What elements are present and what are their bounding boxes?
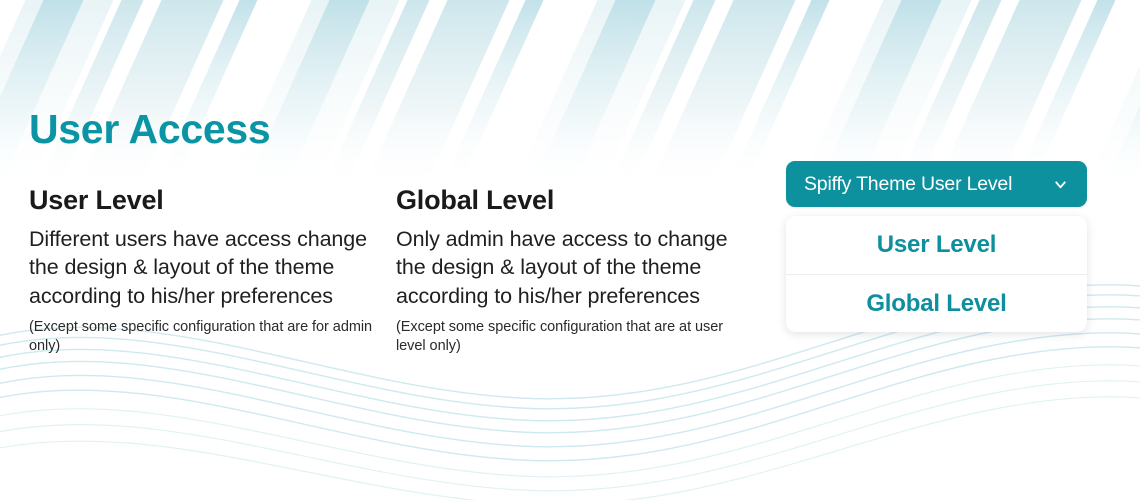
column-body-user-level: Different users have access change the d… [29, 225, 374, 310]
column-note-global-level: (Except some specific configuration that… [396, 318, 741, 356]
dropdown-item-user-level[interactable]: User Level [786, 216, 1087, 274]
column-body-global-level: Only admin have access to change the des… [396, 225, 741, 310]
dropdown-item-label: User Level [877, 231, 996, 259]
dropdown-menu: User Level Global Level [786, 216, 1087, 332]
column-user-level: User Level Different users have access c… [29, 185, 374, 356]
dropdown-toggle-label: Spiffy Theme User Level [804, 173, 1012, 196]
theme-user-level-dropdown: Spiffy Theme User Level User Level Globa… [786, 161, 1087, 332]
dropdown-item-global-level[interactable]: Global Level [786, 274, 1087, 332]
dropdown-toggle-button[interactable]: Spiffy Theme User Level [786, 161, 1087, 207]
column-heading-user-level: User Level [29, 185, 374, 216]
column-note-user-level: (Except some specific configuration that… [29, 318, 374, 356]
slide-canvas: User Access User Level Different users h… [0, 0, 1140, 500]
column-heading-global-level: Global Level [396, 185, 741, 216]
chevron-down-icon[interactable] [1050, 174, 1070, 194]
page-title: User Access [29, 108, 270, 151]
column-global-level: Global Level Only admin have access to c… [396, 185, 741, 356]
dropdown-item-label: Global Level [866, 290, 1006, 318]
